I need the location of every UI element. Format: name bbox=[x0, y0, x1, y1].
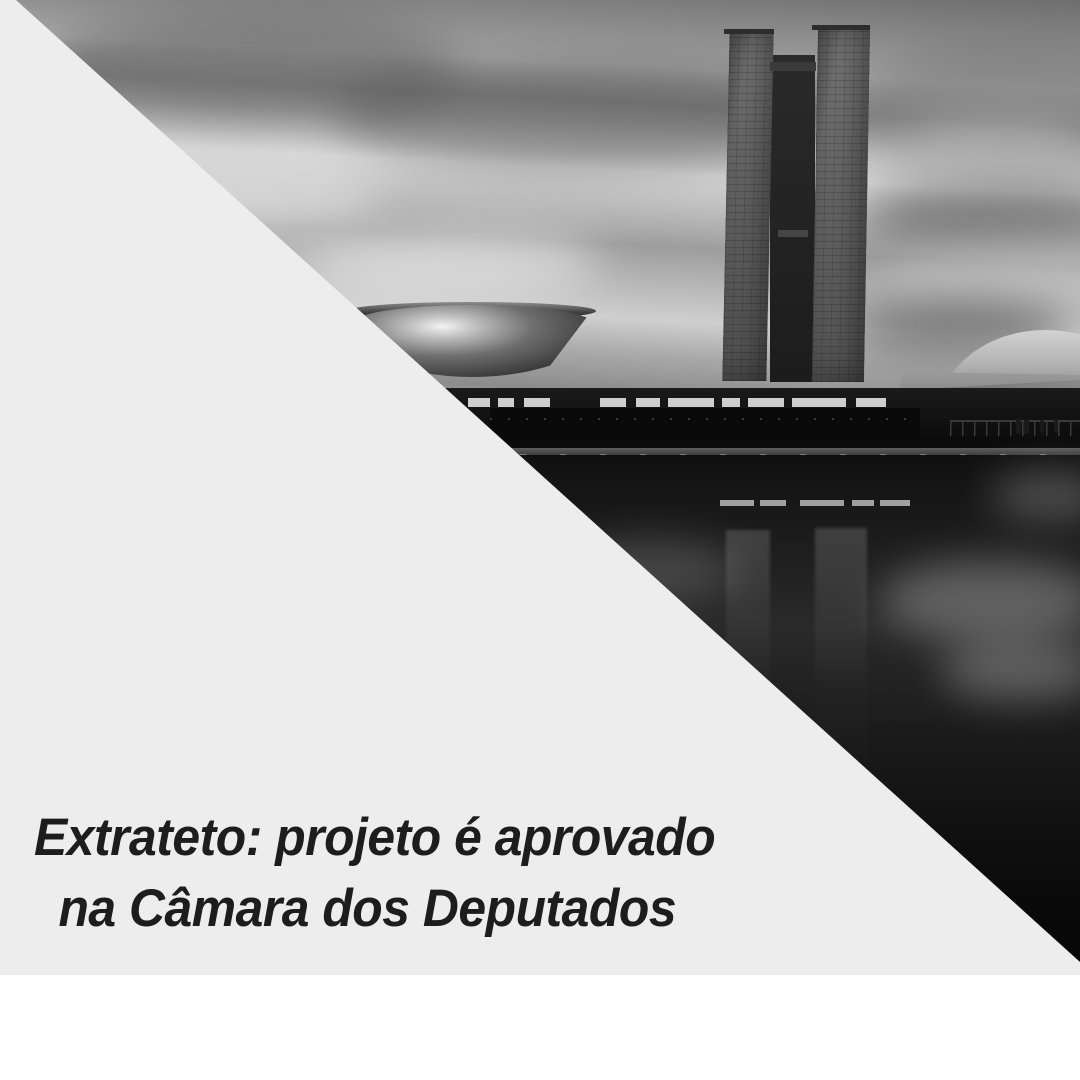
cloud bbox=[300, 230, 600, 300]
water-reflection-light bbox=[720, 500, 754, 506]
lit-window bbox=[636, 398, 660, 407]
tower-cap bbox=[812, 25, 870, 30]
plaza-railing bbox=[950, 420, 1080, 434]
page-title: Extrateto: projeto é aprovado na Câmara … bbox=[34, 733, 748, 1015]
water-reflection-light bbox=[880, 500, 910, 506]
social-media-banner: Extrateto: projeto é aprovado na Câmara … bbox=[0, 0, 1080, 1080]
congress-tower-left bbox=[722, 31, 773, 381]
tower-gap bbox=[770, 55, 815, 382]
tower-cap bbox=[724, 29, 774, 34]
lit-window bbox=[748, 398, 784, 407]
lit-window bbox=[600, 398, 626, 407]
lit-window bbox=[498, 398, 514, 407]
water-reflection-light bbox=[852, 500, 874, 506]
headline-line-1: Extrateto: projeto é aprovado bbox=[34, 808, 715, 867]
pedestrian bbox=[1024, 419, 1029, 434]
congress-tower-right bbox=[812, 27, 870, 382]
sky-bridge bbox=[770, 62, 816, 71]
water-reflection-light bbox=[800, 500, 844, 506]
lit-window bbox=[792, 398, 846, 407]
pedestrian bbox=[1016, 418, 1021, 434]
lit-window bbox=[468, 398, 490, 407]
colonnade bbox=[490, 408, 920, 442]
lit-window bbox=[856, 398, 886, 407]
sky-bridge-lower bbox=[778, 230, 808, 237]
lit-window bbox=[722, 398, 740, 407]
headline-line-2: na Câmara dos Deputados bbox=[34, 874, 748, 944]
water-reflection-light bbox=[760, 500, 786, 506]
pedestrian bbox=[1054, 418, 1058, 433]
lit-window bbox=[524, 398, 550, 407]
lit-window bbox=[668, 398, 714, 407]
footer-bar: ANADEP Associação Nacional das Defensora… bbox=[0, 975, 1080, 1080]
pedestrian bbox=[1040, 420, 1044, 433]
